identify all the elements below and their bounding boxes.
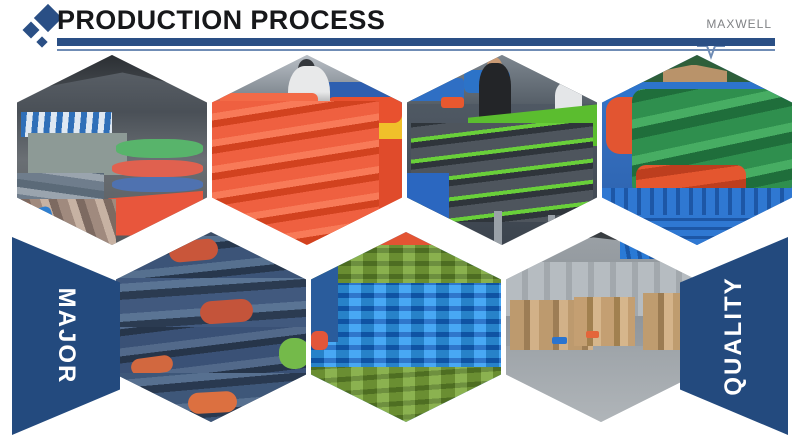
photo-stacked-green-blue-mats xyxy=(311,232,501,422)
page-title: PRODUCTION PROCESS xyxy=(57,5,385,35)
photo-worker-sorting-green-grey-covers xyxy=(407,55,597,245)
photo-worker-folding-orange-tarps xyxy=(212,55,402,245)
photo-stacked-inflatable-pads xyxy=(116,232,306,422)
photo-packed-bags-in-blue-crate xyxy=(602,55,792,245)
photo-fabric-roll-warehouse xyxy=(17,55,207,245)
photo-carton-boxes-warehouse xyxy=(506,232,696,422)
diamond-icon-medium xyxy=(23,22,40,39)
process-photo-hex-5[interactable] xyxy=(116,232,306,422)
diamond-icon-small xyxy=(36,36,47,47)
header-rule-thin xyxy=(57,49,775,51)
process-photo-hex-4[interactable] xyxy=(602,55,792,245)
process-photo-hex-6[interactable] xyxy=(311,232,501,422)
process-photo-hex-3[interactable] xyxy=(407,55,597,245)
brand-label: MAXWELL xyxy=(706,17,772,31)
production-process-slide: PRODUCTION PROCESS MAXWELL xyxy=(0,0,800,447)
process-photo-hex-7[interactable] xyxy=(506,232,696,422)
process-photo-hex-2[interactable] xyxy=(212,55,402,245)
slide-header: PRODUCTION PROCESS MAXWELL xyxy=(0,0,800,56)
header-rule-thick xyxy=(57,38,775,46)
process-photo-hex-1[interactable] xyxy=(17,55,207,245)
